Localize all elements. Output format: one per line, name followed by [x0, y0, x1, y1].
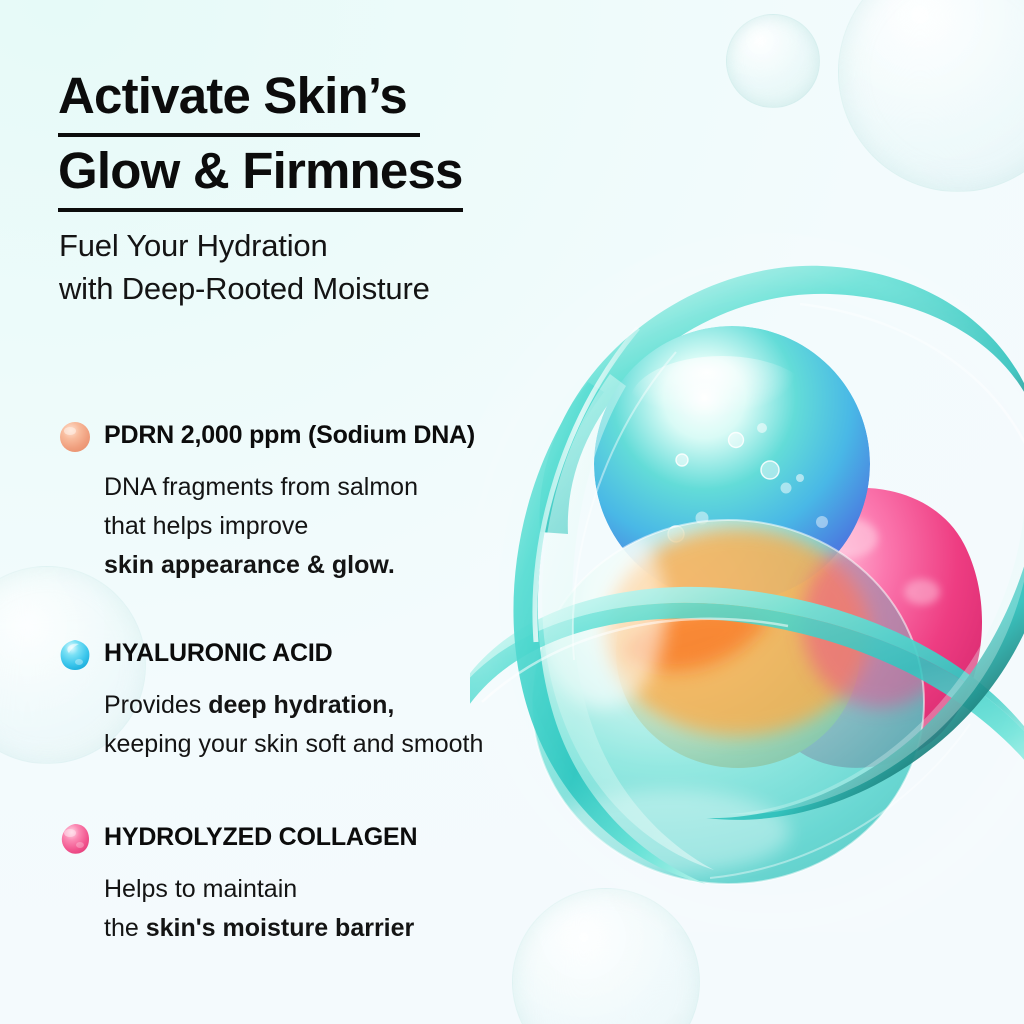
ingredient-description: DNA fragments from salmon that helps imp…	[104, 468, 604, 585]
description-line-bold: deep hydration,	[208, 691, 394, 719]
ingredient-item-hyaluronic-acid: HYALURONIC ACID Provides deep hydration,…	[0, 634, 620, 680]
description-line: Helps to maintain	[104, 870, 604, 909]
page-title: Activate Skin’s Glow & Firmness	[58, 62, 598, 212]
pink-blob-icon	[57, 821, 93, 857]
subheading: Fuel Your Hydration with Deep-Rooted Moi…	[59, 224, 579, 310]
ingredient-title: PDRN 2,000 ppm (Sodium DNA)	[104, 416, 475, 454]
ingredient-item-hydrolyzed-collagen: HYDROLYZED COLLAGEN Helps to maintain th…	[0, 818, 620, 864]
description-line: DNA fragments from salmon	[104, 468, 604, 507]
peach-blob-icon	[57, 419, 93, 455]
copy-column: Activate Skin’s Glow & Firmness Fuel You…	[0, 0, 620, 1024]
ingredient-item-pdrn: PDRN 2,000 ppm (Sodium DNA) DNA fragment…	[0, 416, 620, 462]
ingredient-title: HYDROLYZED COLLAGEN	[104, 818, 417, 856]
description-line: keeping your skin soft and smooth	[104, 725, 604, 764]
description-line-bold: skin appearance & glow.	[104, 551, 395, 579]
description-line: that helps improve	[104, 507, 604, 546]
ingredient-header: HYALURONIC ACID	[0, 634, 620, 680]
subheading-line-2: with Deep-Rooted Moisture	[59, 267, 579, 310]
ingredient-description: Helps to maintain the skin's moisture ba…	[104, 870, 604, 948]
ingredient-title: HYALURONIC ACID	[104, 634, 333, 672]
ingredient-header: PDRN 2,000 ppm (Sodium DNA)	[0, 416, 620, 462]
description-line: Provides	[104, 691, 208, 719]
water-crystal-icon	[57, 637, 93, 673]
description-line-bold: skin's moisture barrier	[146, 914, 415, 942]
ingredient-header: HYDROLYZED COLLAGEN	[0, 818, 620, 864]
ingredient-description: Provides deep hydration, keeping your sk…	[104, 686, 604, 764]
description-line: the	[104, 914, 146, 942]
bubble-top-right-large-icon	[838, 0, 1024, 192]
subheading-line-1: Fuel Your Hydration	[59, 224, 579, 267]
infographic-poster: Activate Skin’s Glow & Firmness Fuel You…	[0, 0, 1024, 1024]
headline-line-1: Activate Skin’s	[58, 62, 420, 137]
headline-line-2: Glow & Firmness	[58, 137, 463, 212]
bubble-top-right-small-icon	[726, 14, 820, 108]
